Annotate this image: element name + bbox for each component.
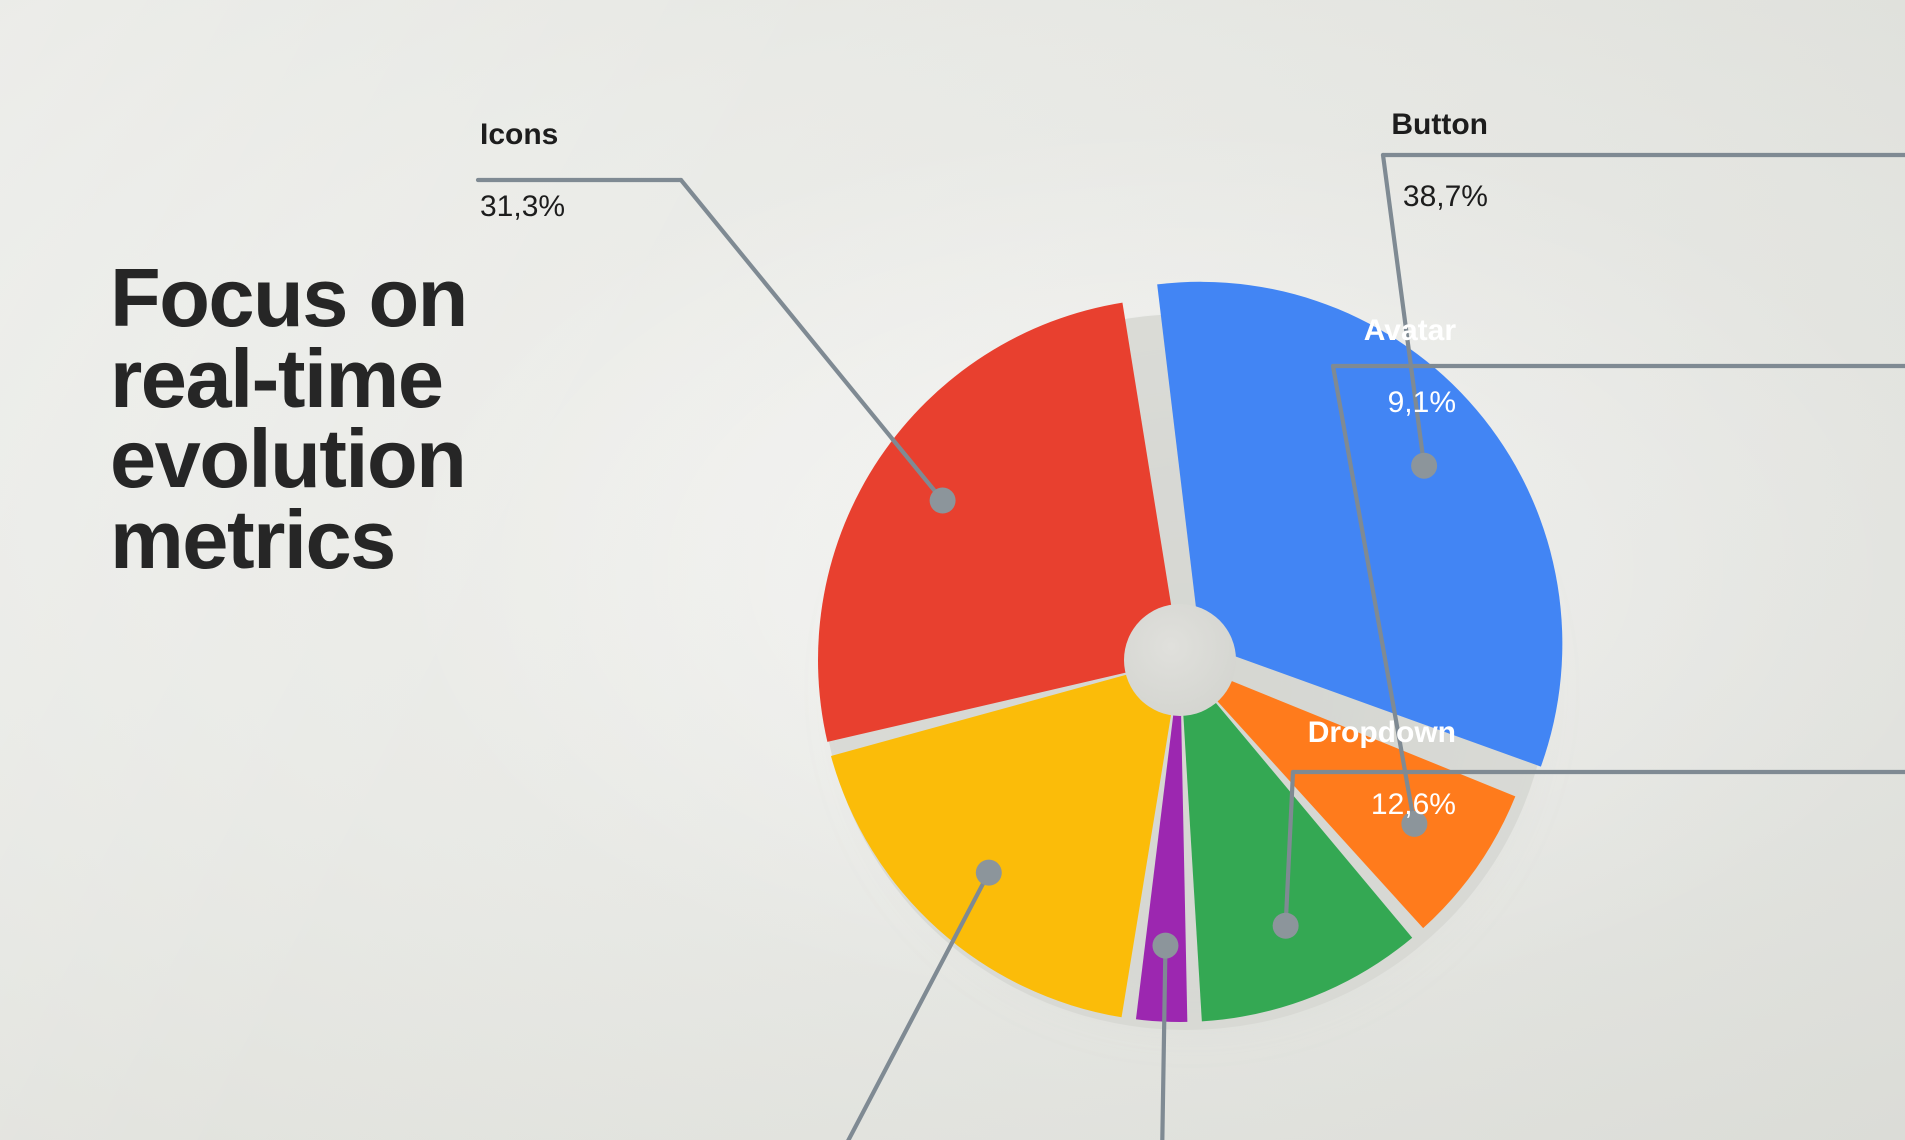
callout-button-name: Button xyxy=(1200,110,1488,140)
slide-canvas: Focus on real-time evolution metrics xyxy=(0,0,1905,1140)
callout-dropdown-percent: 12,6% xyxy=(1130,790,1456,820)
callout-icons-percent: 31,3% xyxy=(480,192,760,222)
pie-chart xyxy=(0,0,1905,1140)
callout-dropdown-name: Dropdown xyxy=(1130,718,1456,748)
slice-marker-button[interactable] xyxy=(1411,453,1437,479)
donut-hole xyxy=(1124,604,1236,716)
slice-marker-icons[interactable] xyxy=(930,488,956,514)
slice-marker-dropdown[interactable] xyxy=(1273,913,1299,939)
slice-marker-offscreen-0[interactable] xyxy=(976,860,1002,886)
callout-button-percent: 38,7% xyxy=(1200,182,1488,212)
callout-avatar-percent: 9,1% xyxy=(1170,388,1456,418)
callout-dropdown[interactable]: Dropdown 12,6% xyxy=(1130,718,1456,820)
callout-avatar-name: Avatar xyxy=(1170,316,1456,346)
callout-icons-name: Icons xyxy=(480,120,760,150)
callout-button[interactable]: Button 38,7% xyxy=(1200,110,1488,212)
leader-line-icons xyxy=(681,180,943,501)
slice-marker-offscreen-1[interactable] xyxy=(1152,933,1178,959)
callout-icons[interactable]: Icons 31,3% xyxy=(480,120,760,222)
callout-avatar[interactable]: Avatar 9,1% xyxy=(1170,316,1456,418)
